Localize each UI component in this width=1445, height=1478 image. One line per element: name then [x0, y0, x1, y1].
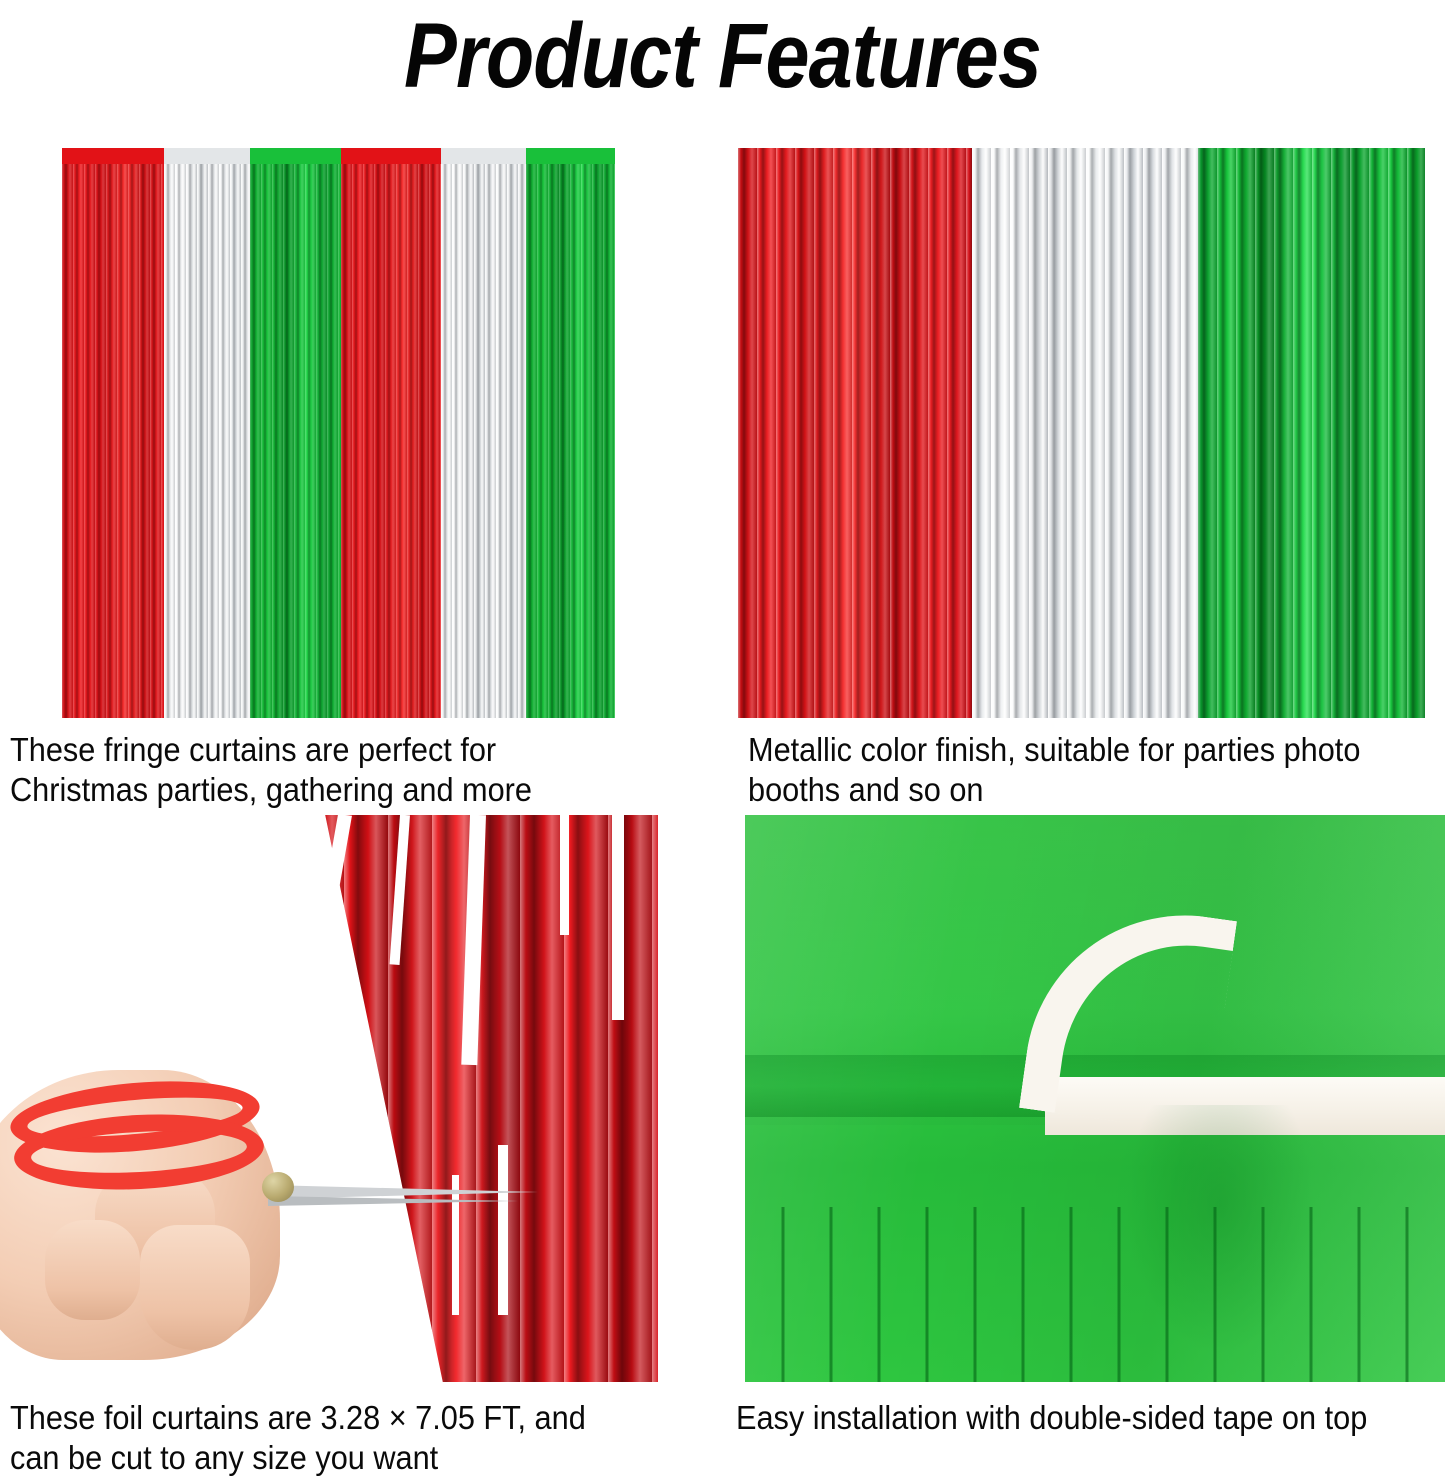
finger [140, 1225, 250, 1350]
panel-row [62, 148, 615, 718]
curtain-panel-silver-1 [164, 148, 250, 718]
closeup-panel-red [738, 148, 972, 718]
fringe-cut-lines [745, 1207, 1445, 1382]
page-title: Product Features [101, 4, 1344, 108]
feature-caption-tape-install: Easy installation with double-sided tape… [736, 1398, 1398, 1438]
curtain-panel-red-2 [341, 148, 441, 718]
scissors-pivot-screw [262, 1172, 294, 1202]
foil-strand-gap [560, 815, 569, 935]
foil-strand-gap [612, 815, 624, 1020]
green-curtain-double-sided-tape-photo [745, 815, 1445, 1382]
feature-caption-metallic-closeup: Metallic color finish, suitable for part… [748, 730, 1399, 810]
curtain-panel-green-2 [526, 148, 614, 718]
feature-caption-curtain-set: These fringe curtains are perfect for Ch… [10, 730, 605, 810]
curtain-panel-red-1 [62, 148, 164, 718]
six-panel-fringe-curtain-photo [62, 148, 615, 718]
curtain-panel-green-1 [250, 148, 341, 718]
foil-strand-gap [498, 1145, 508, 1315]
scissors-blade-lower [268, 1196, 518, 1206]
metallic-finish-closeup-photo [738, 148, 1425, 718]
scissors-cutting-red-curtain-photo [0, 815, 658, 1382]
closeup-row [738, 148, 1425, 718]
closeup-panel-silver [972, 148, 1199, 718]
foil-sheen [1125, 1105, 1315, 1355]
closeup-panel-green [1198, 148, 1425, 718]
feature-caption-cut-to-size: These foil curtains are 3.28 × 7.05 FT, … [10, 1398, 624, 1478]
curtain-panel-silver-2 [441, 148, 527, 718]
finger [45, 1220, 140, 1320]
